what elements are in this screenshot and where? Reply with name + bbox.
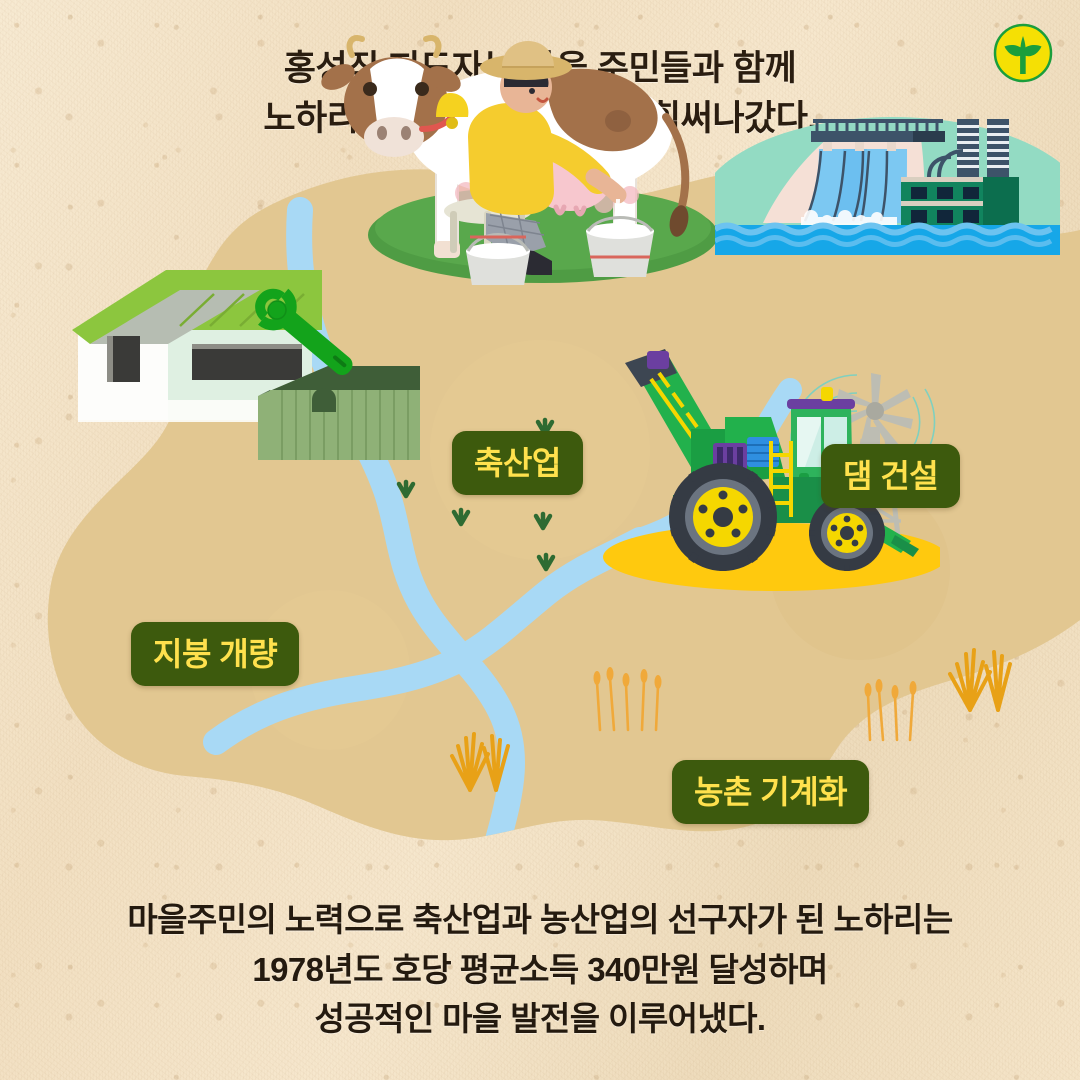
footer-line-2: 1978년도 호당 평균소득 340만원 달성하며	[0, 945, 1080, 995]
label-badge-mechanization[interactable]: 농촌 기계화	[672, 760, 869, 824]
badge-text-mechanization: 농촌 기계화	[694, 767, 847, 813]
infographic-poster: 홍성직 지도자는 마을 주민들과 함께 노하리의 발전을 위해 더욱 힘써나갔다…	[0, 0, 1080, 1080]
front-wheel	[669, 463, 777, 571]
milk-bucket-right	[586, 218, 654, 278]
badge-text-dam: 댐 건설	[843, 451, 938, 497]
wheat-stalks-icon	[594, 667, 917, 740]
illustration-roof-improvement	[60, 260, 420, 485]
label-badge-livestock[interactable]: 축산업	[452, 431, 583, 495]
illustration-livestock-milking	[318, 25, 758, 285]
power-station	[901, 177, 1019, 227]
footer-caption: 마을주민의 노력으로 축산업과 농산업의 선구자가 된 노하리는 1978년도 …	[0, 895, 1080, 1044]
footer-line-3: 성공적인 마을 발전을 이루어냈다.	[0, 994, 1080, 1044]
badge-text-livestock: 축산업	[474, 438, 561, 484]
illustration-dam-construction	[715, 105, 1060, 255]
badge-text-roof: 지붕 개량	[153, 629, 277, 675]
footer-line-1: 마을주민의 노력으로 축산업과 농산업의 선구자가 된 노하리는	[0, 895, 1080, 945]
label-badge-dam[interactable]: 댐 건설	[821, 444, 960, 508]
label-badge-roof[interactable]: 지붕 개량	[131, 622, 299, 686]
